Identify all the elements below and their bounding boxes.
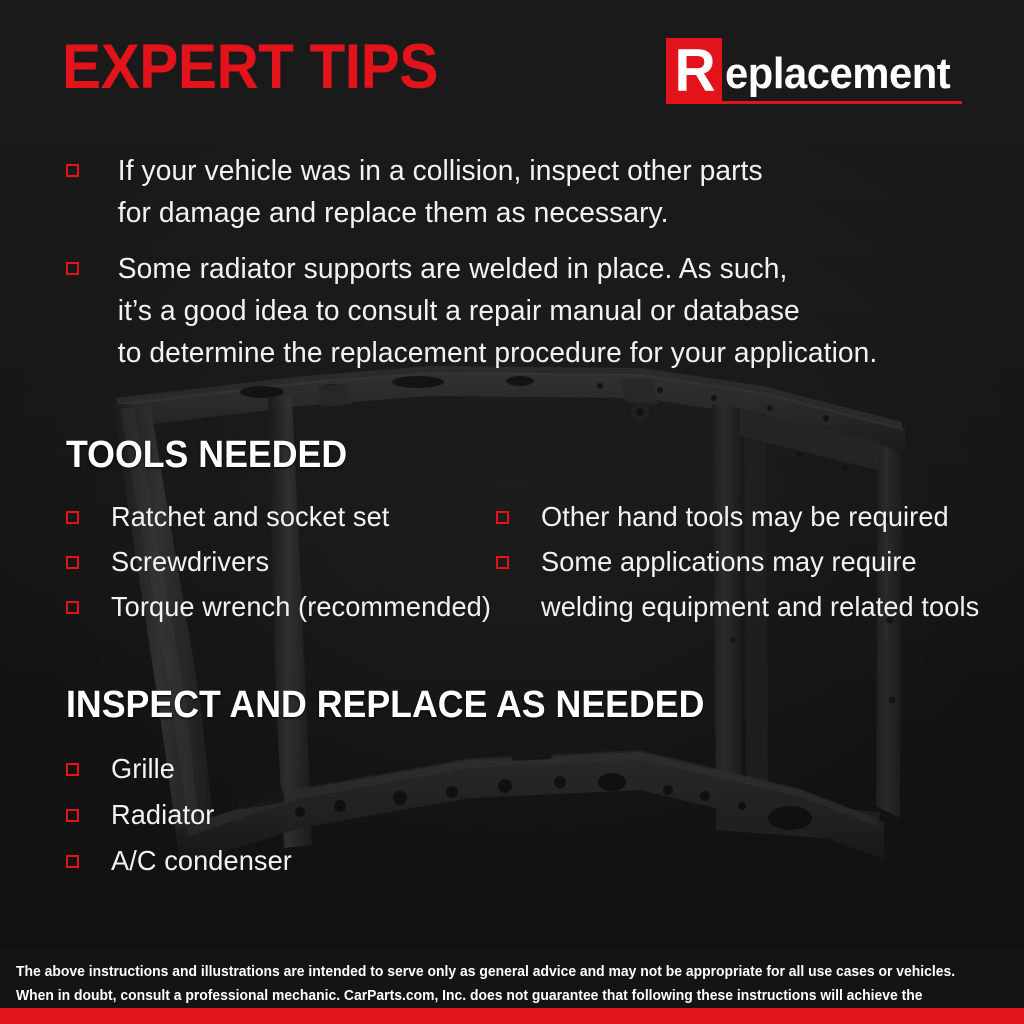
tools-right-column: Other hand tools may be required Some ap… bbox=[496, 500, 966, 635]
footer-red-bar bbox=[0, 1008, 1024, 1024]
bullet-square-icon bbox=[66, 809, 79, 822]
logo-wordmark: eplacement bbox=[725, 50, 950, 104]
replacement-brand-logo: R eplacement bbox=[666, 38, 962, 104]
list-item: Screwdrivers bbox=[66, 545, 496, 579]
inspect-line: A/C condenser bbox=[111, 844, 292, 878]
tool-text: Screwdrivers bbox=[79, 545, 269, 579]
tool-text: Ratchet and socket set bbox=[79, 500, 389, 534]
tool-line: welding equipment and related tools bbox=[541, 590, 979, 624]
bullet-square-icon bbox=[66, 763, 79, 776]
tools-left-column: Ratchet and socket set Screwdrivers Torq… bbox=[66, 500, 496, 635]
tip-line: for damage and replace them as necessary… bbox=[118, 192, 763, 234]
list-item: If your vehicle was in a collision, insp… bbox=[66, 150, 966, 234]
list-item: Some applications may require welding eq… bbox=[496, 545, 966, 624]
inspect-line: Radiator bbox=[111, 798, 214, 832]
expert-tips-poster: EXPERT TIPS R eplacement If your vehicle… bbox=[0, 0, 1024, 1024]
bullet-square-icon bbox=[496, 511, 509, 524]
tip-text: Some radiator supports are welded in pla… bbox=[79, 248, 877, 374]
tip-line: Some radiator supports are welded in pla… bbox=[118, 248, 878, 290]
tool-line: Torque wrench (recommended) bbox=[111, 590, 491, 624]
bullet-square-icon bbox=[66, 511, 79, 524]
list-item: Torque wrench (recommended) bbox=[66, 590, 496, 624]
tip-line: If your vehicle was in a collision, insp… bbox=[118, 150, 763, 192]
tool-line: Other hand tools may be required bbox=[541, 500, 949, 534]
poster-footer: The above instructions and illustrations… bbox=[0, 948, 1024, 1008]
list-item: Some radiator supports are welded in pla… bbox=[66, 248, 966, 374]
list-item: Grille bbox=[66, 752, 686, 786]
tool-text: Other hand tools may be required bbox=[509, 500, 949, 534]
bullet-square-icon bbox=[66, 855, 79, 868]
inspect-text: Grille bbox=[79, 752, 175, 786]
tool-line: Screwdrivers bbox=[111, 545, 269, 579]
tool-line: Ratchet and socket set bbox=[111, 500, 389, 534]
bullet-square-icon bbox=[66, 262, 79, 275]
expert-tips-list: If your vehicle was in a collision, insp… bbox=[66, 150, 966, 388]
tip-line: to determine the replacement procedure f… bbox=[118, 332, 878, 374]
inspect-replace-list: Grille Radiator A/C condenser bbox=[66, 752, 686, 890]
bullet-square-icon bbox=[66, 164, 79, 177]
logo-underline bbox=[666, 101, 962, 104]
bullet-square-icon bbox=[66, 601, 79, 614]
inspect-line: Grille bbox=[111, 752, 175, 786]
inspect-text: Radiator bbox=[79, 798, 214, 832]
tool-text: Some applications may require welding eq… bbox=[509, 545, 979, 624]
list-item: Other hand tools may be required bbox=[496, 500, 966, 534]
tool-line: Some applications may require bbox=[541, 545, 979, 579]
bullet-square-icon bbox=[496, 556, 509, 569]
tool-text: Torque wrench (recommended) bbox=[79, 590, 491, 624]
list-item: A/C condenser bbox=[66, 844, 686, 878]
tip-line: it’s a good idea to consult a repair man… bbox=[118, 290, 878, 332]
page-title: EXPERT TIPS bbox=[62, 36, 438, 99]
inspect-replace-heading: INSPECT AND REPLACE AS NEEDED bbox=[66, 686, 704, 724]
list-item: Radiator bbox=[66, 798, 686, 832]
poster-content: If your vehicle was in a collision, insp… bbox=[0, 0, 1024, 1024]
logo-initial-box: R bbox=[666, 38, 722, 104]
tip-text: If your vehicle was in a collision, insp… bbox=[79, 150, 763, 234]
poster-header: EXPERT TIPS R eplacement bbox=[0, 0, 1024, 132]
bullet-square-icon bbox=[66, 556, 79, 569]
list-item: Ratchet and socket set bbox=[66, 500, 496, 534]
logo-inner: R eplacement bbox=[666, 38, 962, 104]
inspect-text: A/C condenser bbox=[79, 844, 292, 878]
tools-needed-lists: Ratchet and socket set Screwdrivers Torq… bbox=[66, 500, 966, 635]
tools-needed-heading: TOOLS NEEDED bbox=[66, 436, 347, 474]
